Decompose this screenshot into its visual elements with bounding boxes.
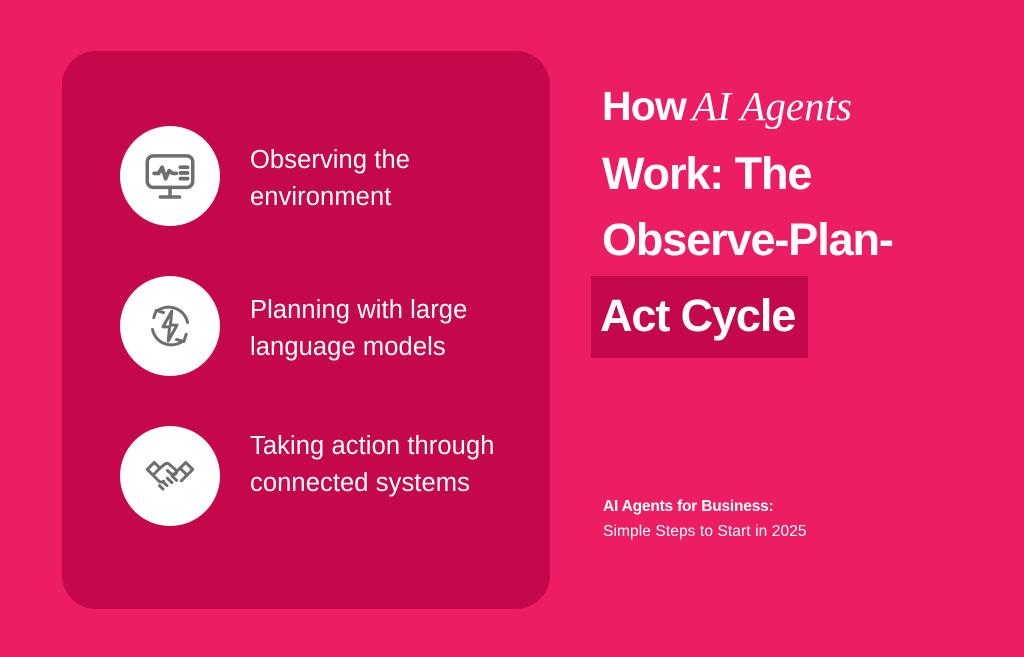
headline-eyebrow: HowAI Agents [602, 86, 1002, 127]
monitor-pulse-icon [120, 126, 220, 226]
headline-eyebrow-italic: AI Agents [692, 83, 852, 129]
list-item-label: Taking action through connected systems [250, 428, 510, 502]
list-item: Planning with large language models [120, 276, 550, 376]
list-item: Observing the environment [120, 126, 550, 226]
list-item-label: Planning with large language models [250, 292, 510, 366]
right-column: HowAI Agents Work: The Observe-Plan- Act… [602, 0, 1002, 657]
footer-title: AI Agents for Business: [603, 497, 863, 516]
feature-card: Observing the environment Planning with … [62, 51, 550, 609]
feature-list: Observing the environment Planning with … [120, 126, 550, 526]
page-title: HowAI Agents Work: The Observe-Plan- Act… [602, 86, 1002, 358]
headline-eyebrow-bold: How [602, 83, 686, 129]
footer-block: AI Agents for Business: Simple Steps to … [603, 497, 863, 544]
handshake-icon [120, 426, 220, 526]
refresh-bolt-icon [120, 276, 220, 376]
headline-line-2: Observe-Plan- [602, 207, 1002, 273]
footer-subtitle: Simple Steps to Start in 2025 [603, 520, 863, 544]
headline-line-1: Work: The [602, 141, 1002, 207]
slide-root: Observing the environment Planning with … [0, 0, 1024, 657]
list-item: Taking action through connected systems [120, 426, 550, 526]
headline-main: Work: The Observe-Plan- Act Cycle [602, 141, 1002, 358]
headline-line-3-highlight: Act Cycle [591, 276, 808, 358]
list-item-label: Observing the environment [250, 142, 510, 216]
